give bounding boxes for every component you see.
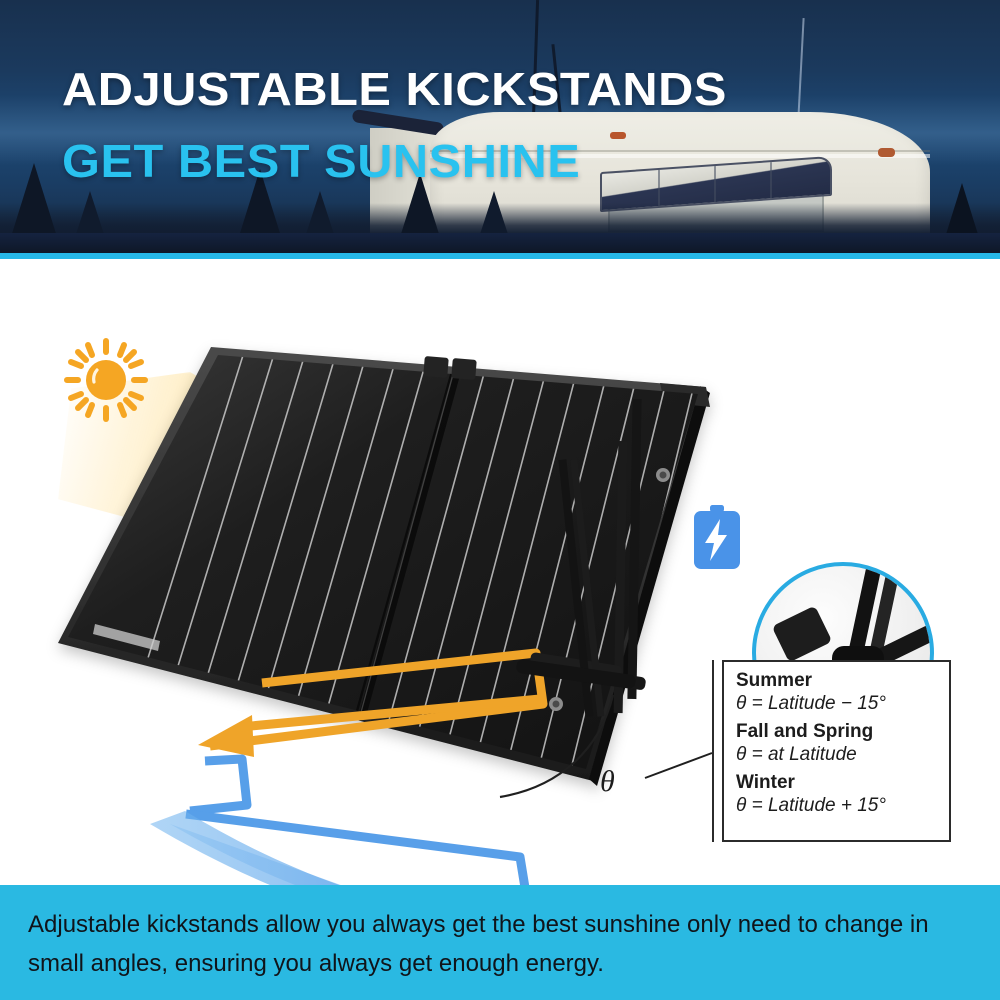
annotation-leader-line [645,753,712,778]
page-subtitle: GET BEST SUNSHINE [62,134,580,188]
kickstand-end-cap [772,606,833,663]
season-label: Summer [736,669,949,692]
main-illustration: θ INTEGRATED ALUMIMUM ALLOY KICKSTAND [0,259,1000,885]
awning-rib [770,162,772,198]
awning-rib [714,166,716,202]
season-equation: θ = Latitude − 15° [736,692,949,716]
ground-silhouette [0,233,1000,253]
solar-panel-face [68,355,698,769]
season-equation: θ = Latitude + 15° [736,794,949,818]
battery-charging-icon [692,505,742,571]
rv-marker-lamp-left [610,132,626,139]
theta-symbol-label: θ [600,765,615,799]
table-row: Winter θ = Latitude + 15° [736,771,949,818]
annotation-bracket [712,660,714,842]
season-label: Fall and Spring [736,720,949,743]
season-label: Winter [736,771,949,794]
rv-marker-lamp-right [878,148,895,157]
table-row: Fall and Spring θ = at Latitude [736,720,949,767]
table-row: Summer θ = Latitude − 15° [736,669,949,716]
footer-caption-text: Adjustable kickstands allow you always g… [28,905,976,983]
header-hero-banner: ADJUSTABLE KICKSTANDS GET BEST SUNSHINE [0,0,1000,253]
season-equation: θ = at Latitude [736,743,949,767]
awning-rib [658,170,660,206]
product-infographic: ADJUSTABLE KICKSTANDS GET BEST SUNSHINE [0,0,1000,1000]
energy-in-arrowhead [198,715,254,757]
tilt-angle-table: Summer θ = Latitude − 15° Fall and Sprin… [722,660,951,842]
page-title: ADJUSTABLE KICKSTANDS [62,62,727,116]
footer-caption-banner: Adjustable kickstands allow you always g… [0,885,1000,1000]
